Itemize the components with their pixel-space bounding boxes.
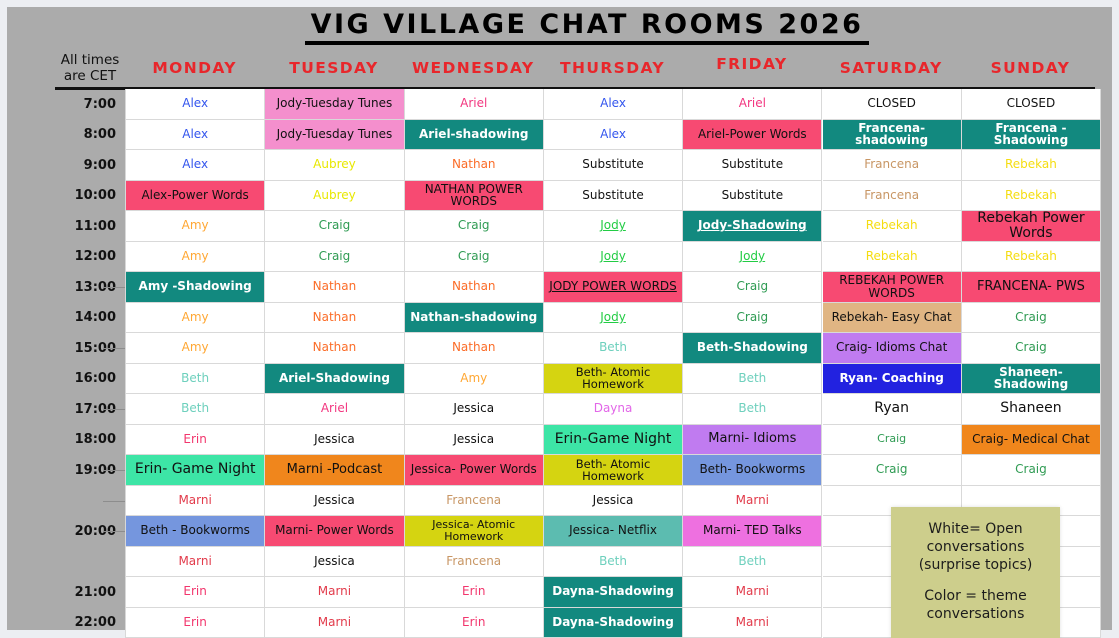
schedule-cell-text: Beth — [181, 402, 209, 415]
schedule-cell[interactable]: Craig — [265, 211, 404, 242]
schedule-cell[interactable]: Beth - Bookworms — [126, 516, 265, 547]
schedule-cell-text: Jessica- Atomic Homework — [408, 519, 540, 542]
schedule-cell-text: Nathan — [313, 341, 357, 354]
schedule-cell-text: Marni — [178, 555, 211, 568]
schedule-cell-text: Craig — [1015, 341, 1047, 354]
schedule-cell-text: Nathan-shadowing — [410, 311, 537, 324]
schedule-cell[interactable]: Ariel-Shadowing — [265, 364, 404, 395]
legend-line-5: conversations — [921, 606, 1031, 624]
gutter-tick — [103, 531, 125, 532]
schedule-cell-text: Amy — [460, 372, 487, 385]
schedule-cell[interactable]: Craig — [823, 425, 962, 456]
schedule-cell-text: Erin — [183, 616, 206, 629]
schedule-cell[interactable]: Ariel — [405, 89, 544, 120]
schedule-cell[interactable]: Shaneen-Shadowing — [962, 364, 1101, 395]
schedule-cell-text: Amy — [182, 341, 209, 354]
schedule-cell[interactable]: Jessica — [405, 425, 544, 456]
schedule-cell[interactable]: Craig — [683, 303, 822, 334]
day-header-sunday: SUNDAY — [961, 47, 1100, 89]
schedule-cell[interactable]: Substitute — [683, 150, 822, 181]
schedule-cell-text: Jody-Tuesday Tunes — [277, 128, 393, 141]
schedule-cell-text: FRANCENA- PWS — [977, 280, 1085, 294]
schedule-cell-text: Jessica- Power Words — [411, 463, 537, 476]
schedule-cell[interactable]: Marni- Idioms — [683, 425, 822, 456]
schedule-cell-text: Ariel — [739, 97, 766, 110]
schedule-cell-text: Nathan — [313, 280, 357, 293]
schedule-cell[interactable]: Aubrey — [265, 150, 404, 181]
schedule-cell-text: Erin — [462, 616, 485, 629]
time-label: 16:00 — [7, 364, 125, 395]
schedule-cell[interactable]: Dayna — [544, 394, 683, 425]
schedule-cell[interactable]: Craig — [962, 455, 1101, 486]
schedule-cell[interactable]: Beth- Atomic Homework — [544, 455, 683, 486]
schedule-cell[interactable]: Beth-Shadowing — [683, 333, 822, 364]
schedule-cell[interactable]: Jessica- Power Words — [405, 455, 544, 486]
schedule-cell-text: Erin — [462, 585, 485, 598]
schedule-cell-text: Beth - Bookworms — [140, 524, 250, 537]
schedule-cell[interactable]: Erin — [126, 577, 265, 608]
schedule-cell-text: Rebekah — [1005, 189, 1057, 202]
schedule-cell[interactable]: Beth — [544, 333, 683, 364]
schedule-cell-text: Rebekah — [866, 219, 918, 232]
schedule-cell[interactable]: Francena — [823, 150, 962, 181]
schedule-cell-text: Rebekah Power Words — [965, 211, 1097, 240]
gutter-tick — [103, 409, 125, 410]
schedule-cell[interactable]: Rebekah — [962, 242, 1101, 273]
schedule-cell-text: Jody-Tuesday Tunes — [277, 97, 393, 110]
schedule-cell[interactable]: Amy — [126, 211, 265, 242]
schedule-cell-text: Amy -Shadowing — [139, 280, 252, 293]
schedule-cell[interactable]: CLOSED — [823, 89, 962, 120]
schedule-cell[interactable]: Marni -Podcast — [265, 455, 404, 486]
schedule-cell-text: Beth — [181, 372, 209, 385]
schedule-cell[interactable]: Beth- Bookworms — [683, 455, 822, 486]
schedule-cell-text: Amy — [182, 250, 209, 263]
schedule-cell-text: Francena — [864, 158, 919, 171]
schedule-cell[interactable]: Erin — [405, 608, 544, 638]
schedule-cell-text: Amy — [182, 219, 209, 232]
schedule-cell[interactable]: Ariel — [265, 394, 404, 425]
day-header-tuesday: TUESDAY — [264, 47, 403, 89]
schedule-cell[interactable]: Beth- Atomic Homework — [544, 364, 683, 395]
schedule-cell-text: Dayna-Shadowing — [552, 616, 674, 629]
schedule-cell-text: Craig — [737, 311, 769, 324]
schedule-cell[interactable]: Marni- Power Words — [265, 516, 404, 547]
legend-line-4: Color = theme — [918, 588, 1032, 606]
schedule-cell-text: Beth — [599, 341, 627, 354]
schedule-cell-text: Francena -Shadowing — [965, 122, 1097, 147]
schedule-cell-text: Beth — [599, 555, 627, 568]
schedule-cell-text: Beth — [738, 372, 766, 385]
schedule-cell[interactable]: Rebekah — [823, 242, 962, 273]
schedule-cell[interactable]: FRANCENA- PWS — [962, 272, 1101, 303]
schedule-cell-text: Nathan — [313, 311, 357, 324]
schedule-cell[interactable]: Ariel-Power Words — [683, 120, 822, 151]
schedule-cell[interactable]: Substitute — [683, 181, 822, 212]
schedule-cell-text: Beth- Atomic Homework — [547, 366, 679, 390]
schedule-cell[interactable]: Alex — [126, 89, 265, 120]
schedule-cell[interactable]: Jody — [544, 303, 683, 334]
schedule-cell[interactable]: Erin — [405, 577, 544, 608]
schedule-cell-text: Erin- Game Night — [135, 462, 256, 477]
schedule-cell[interactable]: Marni — [265, 577, 404, 608]
schedule-cell[interactable]: Marni — [683, 577, 822, 608]
schedule-cell-text: Jessica — [453, 402, 494, 415]
schedule-cell[interactable]: Erin — [126, 608, 265, 638]
schedule-cell[interactable]: Craig — [405, 211, 544, 242]
schedule-cell-text: Erin — [183, 585, 206, 598]
schedule-cell[interactable]: REBEKAH POWER WORDS — [823, 272, 962, 303]
legend-sticky-note: White= Open conversations (surprise topi… — [891, 507, 1060, 638]
schedule-cell-text: CLOSED — [867, 97, 916, 110]
schedule-cell[interactable]: Francena-shadowing — [823, 120, 962, 151]
schedule-cell-text: Beth- Bookworms — [699, 463, 805, 476]
gutter-tick — [103, 470, 125, 471]
schedule-cell-text: Nathan — [452, 280, 496, 293]
schedule-cell-text: Marni -Podcast — [287, 463, 383, 477]
timezone-note-line1: All times — [55, 52, 125, 68]
schedule-cell-text: REBEKAH POWER WORDS — [826, 274, 958, 299]
schedule-cell-text: Beth — [738, 555, 766, 568]
gutter-tick — [103, 501, 125, 502]
schedule-cell-text: Francena — [446, 494, 501, 507]
schedule-cell-text: Aubrey — [313, 158, 356, 171]
schedule-cell-text: Beth- Atomic Homework — [547, 458, 679, 482]
schedule-cell[interactable]: Amy — [126, 242, 265, 273]
schedule-cell-text: Jody-Shadowing — [698, 219, 807, 232]
schedule-cell[interactable]: Beth — [683, 394, 822, 425]
schedule-cell[interactable]: Jessica — [405, 394, 544, 425]
schedule-cell[interactable]: Craig — [962, 333, 1101, 364]
schedule-cell-text: Rebekah — [1005, 158, 1057, 171]
page-title-container: VIG VILLAGE CHAT ROOMS 2026 — [132, 9, 1042, 47]
schedule-cell-text: Jessica — [314, 555, 355, 568]
time-label: 21:00 — [7, 577, 125, 608]
schedule-cell-text: Amy — [182, 311, 209, 324]
schedule-cell-text: Jody — [600, 311, 626, 324]
time-label: 9:00 — [7, 150, 125, 181]
schedule-cell[interactable]: Craig- Medical Chat — [962, 425, 1101, 456]
schedule-cell-text: Craig — [877, 433, 906, 445]
schedule-cell-text: Jessica — [314, 433, 355, 446]
schedule-cell[interactable]: Substitute — [544, 150, 683, 181]
schedule-cell[interactable]: Francena -Shadowing — [962, 120, 1101, 151]
schedule-cell-text: Alex — [600, 97, 626, 110]
timezone-note-line2: are CET — [55, 68, 125, 84]
schedule-cell[interactable]: Beth — [126, 394, 265, 425]
schedule-cell-text: Craig- Medical Chat — [972, 433, 1090, 446]
schedule-cell[interactable]: Francena — [823, 181, 962, 212]
schedule-cell-text: Rebekah — [866, 250, 918, 263]
schedule-cell-text: Beth-Shadowing — [697, 341, 808, 354]
schedule-cell-text: Alex — [182, 128, 208, 141]
schedule-cell-text: Alex — [182, 97, 208, 110]
schedule-cell-text: Nathan — [452, 158, 496, 171]
time-label: 10:00 — [7, 181, 125, 212]
schedule-cell-text: Craig- Idioms Chat — [836, 341, 947, 354]
schedule-cell-text: Aubrey — [313, 189, 356, 202]
schedule-cell-text: Alex — [182, 158, 208, 171]
schedule-cell[interactable]: Jody — [544, 211, 683, 242]
schedule-cell-text: JODY POWER WORDS — [549, 280, 677, 293]
schedule-cell[interactable]: Nathan-shadowing — [405, 303, 544, 334]
schedule-cell[interactable]: Craig — [405, 242, 544, 273]
schedule-cell-text: Jessica — [593, 494, 634, 507]
schedule-cell-text: Francena — [446, 555, 501, 568]
day-header-row: All times are CET MONDAYTUESDAYWEDNESDAY… — [7, 47, 1112, 89]
schedule-cell-text: Craig — [876, 463, 908, 476]
schedule-cell[interactable]: Nathan — [265, 333, 404, 364]
schedule-cell[interactable]: JODY POWER WORDS — [544, 272, 683, 303]
schedule-cell[interactable]: Ryan- Coaching — [823, 364, 962, 395]
schedule-cell[interactable]: Jody-Tuesday Tunes — [265, 89, 404, 120]
schedule-cell-text: Ryan — [874, 401, 909, 416]
schedule-cell-text: Marni — [736, 494, 769, 507]
schedule-cell-text: Marni — [318, 616, 351, 629]
schedule-cell-text: Substitute — [582, 189, 644, 202]
schedule-cell[interactable]: Craig — [962, 303, 1101, 334]
schedule-cell[interactable]: Marni — [126, 547, 265, 578]
schedule-cell[interactable]: Alex — [126, 150, 265, 181]
day-header-wednesday: WEDNESDAY — [404, 47, 543, 89]
schedule-cell-text: Craig — [1015, 311, 1047, 324]
legend-line-3: (surprise topics) — [913, 557, 1039, 575]
schedule-cell[interactable]: Marni — [126, 486, 265, 517]
schedule-cell[interactable]: Nathan — [405, 272, 544, 303]
time-label: 18:00 — [7, 425, 125, 456]
schedule-cell-text: Craig — [737, 280, 769, 293]
schedule-cell[interactable]: Alex-Power Words — [126, 181, 265, 212]
schedule-cell[interactable]: Substitute — [544, 181, 683, 212]
schedule-cell[interactable]: Jody — [544, 242, 683, 273]
schedule-cell[interactable]: Nathan — [265, 272, 404, 303]
schedule-cell-text: Ariel-Shadowing — [279, 372, 390, 385]
time-label: 12:00 — [7, 242, 125, 273]
schedule-cell[interactable]: Ryan — [823, 394, 962, 425]
schedule-cell-text: Shaneen — [1000, 401, 1061, 416]
schedule-cell[interactable]: Craig- Idioms Chat — [823, 333, 962, 364]
schedule-cell-text: NATHAN POWER WORDS — [408, 183, 540, 208]
schedule-cell[interactable]: Marni — [265, 608, 404, 638]
schedule-cell-text: Substitute — [582, 158, 644, 171]
schedule-cell[interactable]: Aubrey — [265, 181, 404, 212]
schedule-cell[interactable]: Alex — [544, 89, 683, 120]
schedule-cell[interactable]: Alex — [544, 120, 683, 151]
day-header-saturday: SATURDAY — [822, 47, 961, 89]
schedule-cell[interactable]: Dayna-Shadowing — [544, 608, 683, 638]
schedule-cell[interactable]: Shaneen — [962, 394, 1101, 425]
schedule-cell[interactable]: Jessica- Atomic Homework — [405, 516, 544, 547]
schedule-cell-text: Rebekah — [1005, 250, 1057, 263]
schedule-cell-text: Ariel-Power Words — [698, 128, 807, 141]
schedule-cell[interactable]: Jessica- Netflix — [544, 516, 683, 547]
schedule-canvas: VIG VILLAGE CHAT ROOMS 2026 All times ar… — [7, 7, 1112, 630]
schedule-cell[interactable]: Erin- Game Night — [126, 455, 265, 486]
schedule-cell-text: CLOSED — [1007, 97, 1056, 110]
time-label: 14:00 — [7, 303, 125, 334]
schedule-cell-text: Marni- TED Talks — [703, 524, 802, 537]
schedule-cell[interactable]: Rebekah — [962, 181, 1101, 212]
schedule-cell[interactable]: Amy — [126, 333, 265, 364]
schedule-cell[interactable]: Marni — [683, 486, 822, 517]
schedule-cell-text: Marni- Idioms — [708, 432, 796, 446]
schedule-cell-text: Craig — [458, 250, 490, 263]
schedule-cell-text: Jessica — [314, 494, 355, 507]
schedule-cell[interactable]: Jessica — [265, 425, 404, 456]
schedule-cell-text: Ariel — [321, 402, 348, 415]
schedule-cell[interactable]: NATHAN POWER WORDS — [405, 181, 544, 212]
schedule-cell-text: Alex — [600, 128, 626, 141]
schedule-cell[interactable]: Craig — [265, 242, 404, 273]
schedule-cell[interactable]: Amy — [126, 303, 265, 334]
schedule-cell[interactable]: Rebekah — [823, 211, 962, 242]
schedule-cell[interactable]: Erin — [126, 425, 265, 456]
schedule-cell-text: Jody — [600, 250, 626, 263]
schedule-cell[interactable]: Rebekah — [962, 150, 1101, 181]
schedule-cell[interactable]: Ariel — [683, 89, 822, 120]
schedule-cell-text: Jessica- Netflix — [569, 524, 657, 537]
schedule-cell-text: Erin-Game Night — [555, 432, 672, 447]
schedule-cell-text: Substitute — [722, 189, 784, 202]
schedule-cell[interactable]: Nathan — [405, 150, 544, 181]
schedule-cell[interactable]: Rebekah Power Words — [962, 211, 1101, 242]
schedule-cell-text: Beth — [738, 402, 766, 415]
schedule-cell-text: Marni- Power Words — [275, 524, 394, 537]
schedule-cell[interactable]: Beth — [544, 547, 683, 578]
schedule-cell[interactable]: Nathan — [405, 333, 544, 364]
day-header-friday: FRIDAY — [682, 43, 821, 85]
time-label: 7:00 — [7, 89, 125, 120]
schedule-cell[interactable]: Rebekah- Easy Chat — [823, 303, 962, 334]
schedule-cell-text: Alex-Power Words — [141, 189, 248, 202]
schedule-cell-text: Craig — [458, 219, 490, 232]
schedule-cell[interactable]: Jessica — [544, 486, 683, 517]
schedule-cell[interactable]: Beth — [683, 364, 822, 395]
schedule-cell[interactable]: Ariel-shadowing — [405, 120, 544, 151]
time-label: 22:00 — [7, 608, 125, 638]
time-label: 8:00 — [7, 120, 125, 151]
schedule-cell-text: Marni — [318, 585, 351, 598]
schedule-cell[interactable]: Marni- TED Talks — [683, 516, 822, 547]
schedule-cell[interactable]: Jessica — [265, 547, 404, 578]
schedule-cell-text: Nathan — [452, 341, 496, 354]
schedule-cell-text: Erin — [183, 433, 206, 446]
schedule-cell[interactable]: Amy — [405, 364, 544, 395]
schedule-cell-text: Ariel-shadowing — [419, 128, 529, 141]
legend-line-2: conversations — [921, 539, 1031, 557]
schedule-cell[interactable]: Dayna-Shadowing — [544, 577, 683, 608]
schedule-cell-text: Substitute — [722, 158, 784, 171]
schedule-cell[interactable]: Jessica — [265, 486, 404, 517]
schedule-cell-text: Ariel — [460, 97, 487, 110]
schedule-cell[interactable]: Beth — [126, 364, 265, 395]
schedule-cell-text: Craig — [1015, 463, 1047, 476]
schedule-cell[interactable]: Alex — [126, 120, 265, 151]
schedule-cell-text: Dayna — [594, 402, 633, 415]
legend-line-1: White= Open — [922, 521, 1028, 539]
time-label: 11:00 — [7, 211, 125, 242]
schedule-cell-text: Dayna-Shadowing — [552, 585, 674, 598]
schedule-cell[interactable]: CLOSED — [962, 89, 1101, 120]
schedule-cell-text: Marni — [178, 494, 211, 507]
schedule-cell[interactable]: Jody — [683, 242, 822, 273]
schedule-cell-text: Jessica — [453, 433, 494, 446]
schedule-cell[interactable]: Francena — [405, 486, 544, 517]
schedule-cell-text: Shaneen-Shadowing — [965, 366, 1097, 391]
schedule-cell[interactable]: Craig — [683, 272, 822, 303]
gutter-tick — [103, 287, 125, 288]
gutter-tick — [103, 348, 125, 349]
schedule-cell[interactable]: Marni — [683, 608, 822, 638]
schedule-cell-text: Marni — [736, 616, 769, 629]
schedule-cell[interactable]: Amy -Shadowing — [126, 272, 265, 303]
page-title: VIG VILLAGE CHAT ROOMS 2026 — [305, 11, 870, 45]
timezone-note: All times are CET — [55, 48, 125, 88]
schedule-cell-text: Francena — [864, 189, 919, 202]
schedule-cell[interactable]: Jody-Shadowing — [683, 211, 822, 242]
schedule-cell[interactable]: Nathan — [265, 303, 404, 334]
schedule-cell-text: Jody — [740, 250, 766, 263]
schedule-cell-text: Francena-shadowing — [826, 122, 958, 147]
schedule-cell-text: Jody — [600, 219, 626, 232]
time-label — [7, 547, 125, 578]
schedule-cell[interactable]: Craig — [823, 455, 962, 486]
schedule-cell-text: Craig — [319, 250, 351, 263]
schedule-cell-text: Ryan- Coaching — [839, 372, 943, 385]
schedule-cell-text: Craig — [319, 219, 351, 232]
schedule-cell[interactable]: Beth — [683, 547, 822, 578]
schedule-cell-text: Rebekah- Easy Chat — [832, 311, 952, 324]
day-header-thursday: THURSDAY — [543, 47, 682, 89]
schedule-cell[interactable]: Jody-Tuesday Tunes — [265, 120, 404, 151]
day-header-monday: MONDAY — [125, 47, 264, 89]
schedule-cell[interactable]: Erin-Game Night — [544, 425, 683, 456]
schedule-cell-text: Marni — [736, 585, 769, 598]
schedule-cell[interactable]: Francena — [405, 547, 544, 578]
